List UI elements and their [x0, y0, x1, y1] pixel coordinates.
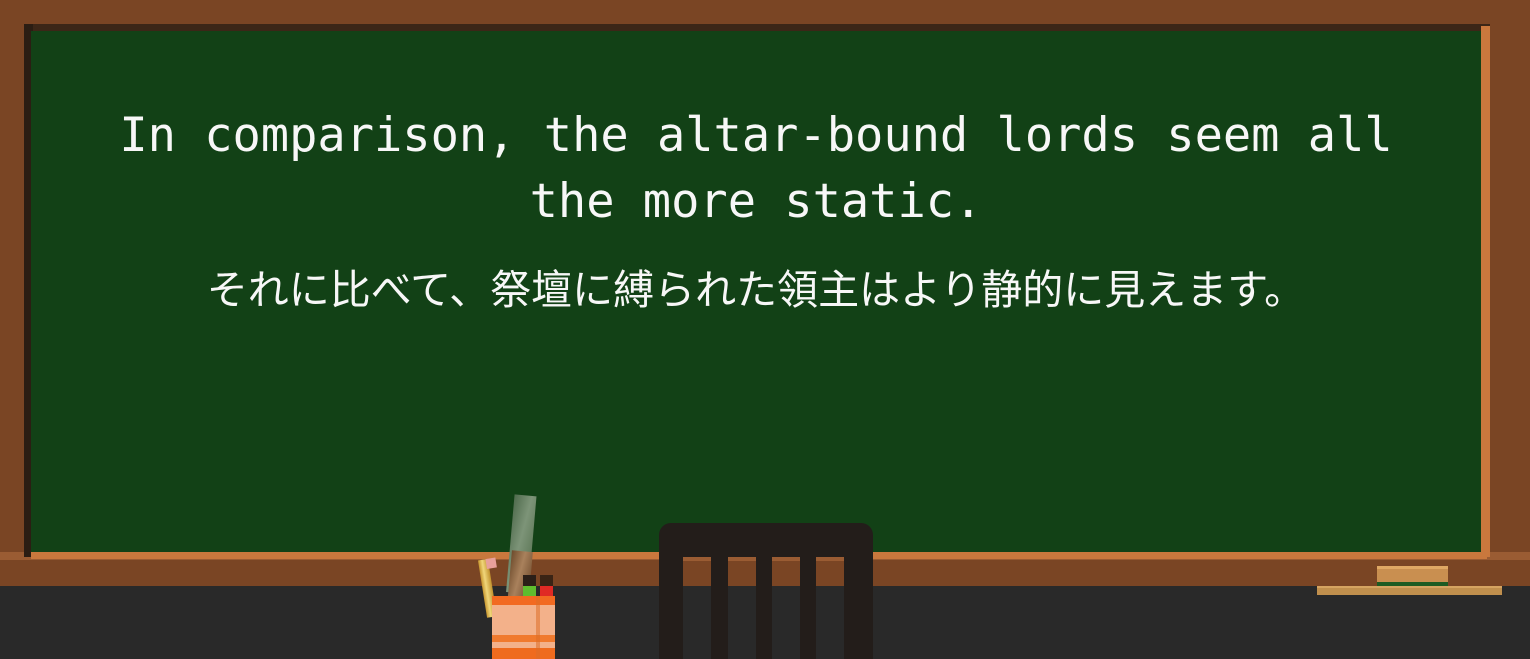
chair-slat-gap — [772, 557, 800, 659]
cup-stripe — [492, 635, 555, 642]
pencil-cup — [478, 495, 578, 659]
chair-slat-gap — [683, 557, 711, 659]
chalkboard-surface: In comparison, the altar-bound lords see… — [31, 31, 1481, 552]
pencil-eraser-tip — [485, 558, 496, 569]
chalk-stick — [1317, 586, 1502, 595]
board-text-block: In comparison, the altar-bound lords see… — [91, 103, 1421, 321]
chair-slat-gap — [816, 557, 844, 659]
cup-stripe — [492, 648, 555, 659]
english-sentence: In comparison, the altar-bound lords see… — [91, 103, 1421, 235]
chalkboard-scene: In comparison, the altar-bound lords see… — [0, 0, 1530, 659]
chair — [659, 523, 873, 659]
chair-slat-gap — [728, 557, 756, 659]
board-right-highlight-edge — [1481, 26, 1490, 557]
japanese-sentence: それに比べて、祭壇に縛られた領主はより静的に見えます。 — [91, 259, 1421, 321]
cup-body — [492, 596, 555, 659]
cup-seam — [536, 596, 540, 659]
board-top-shadow-edge — [24, 24, 1490, 31]
cup-rim — [492, 596, 555, 605]
